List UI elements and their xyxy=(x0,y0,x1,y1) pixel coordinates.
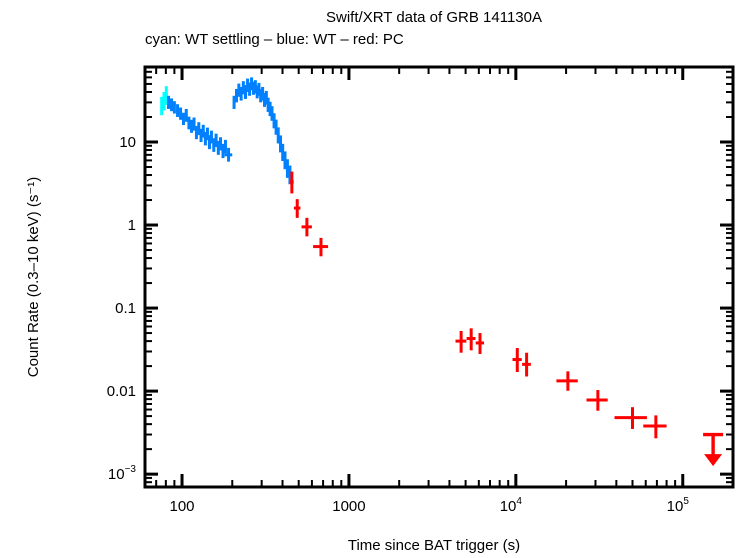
x-tick-exponent: 5 xyxy=(683,496,689,507)
y-tick-label: 0.01 xyxy=(107,383,136,400)
y-tick-label: 10 xyxy=(119,134,136,151)
x-axis-label: Time since BAT trigger (s) xyxy=(348,537,520,554)
lightcurve-figure: Swift/XRT data of GRB 141130A cyan: WT s… xyxy=(0,0,746,558)
y-tick-label: 1 xyxy=(128,217,136,234)
x-tick-label: 100 xyxy=(170,498,195,515)
chart-subtitle: cyan: WT settling – blue: WT – red: PC xyxy=(145,31,404,48)
y-tick-label: 0.1 xyxy=(115,300,136,317)
chart-title: Swift/XRT data of GRB 141130A xyxy=(326,9,542,26)
y-axis-label: Count Rate (0.3–10 keV) (s⁻¹) xyxy=(25,177,42,378)
y-tick-exponent: −3 xyxy=(125,464,137,475)
x-tick-exponent: 4 xyxy=(516,496,522,507)
x-tick-label: 1000 xyxy=(332,498,365,515)
plot-svg: Swift/XRT data of GRB 141130A cyan: WT s… xyxy=(0,0,746,558)
